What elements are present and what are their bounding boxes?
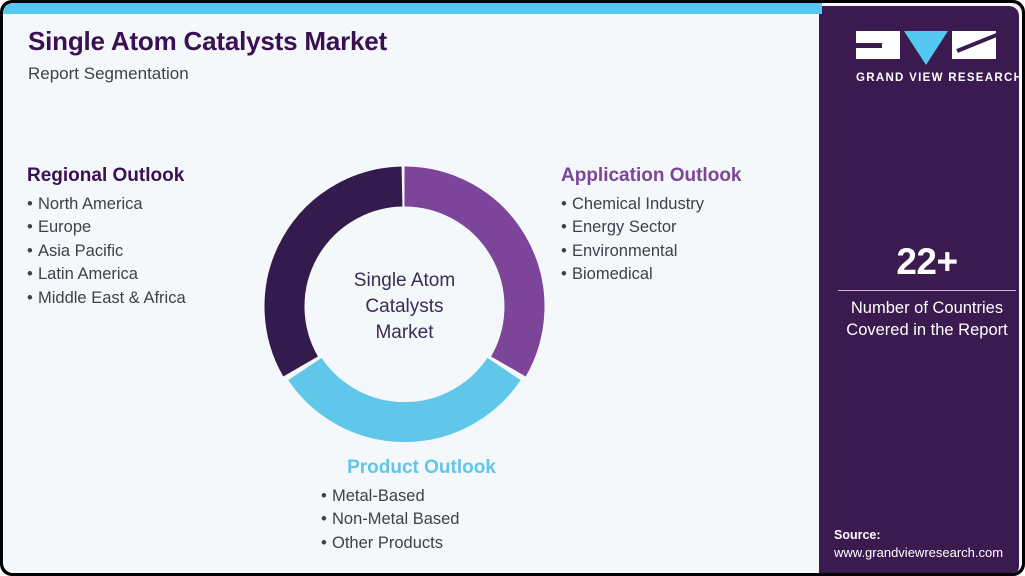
list-item: Non-Metal Based [321,508,543,532]
page-title: Single Atom Catalysts Market [28,27,728,57]
list-item: Latin America [27,263,267,287]
list-item: Energy Sector [561,216,811,240]
source-block: Source: www.grandviewresearch.com [834,526,1022,562]
countries-stat-block: 22+ Number of Countries Covered in the R… [829,241,1022,341]
donut-svg [264,166,545,447]
product-outlook-heading: Product Outlook [300,456,543,481]
list-item: Metal-Based [321,485,543,509]
source-url[interactable]: www.grandviewresearch.com [834,544,1022,562]
logo-marks [856,31,997,65]
list-item: Environmental [561,240,811,264]
stat-caption-line-1: Number of Countries [829,297,1022,319]
stat-caption: Number of Countries Covered in the Repor… [829,297,1022,341]
donut-segment-product [305,369,504,422]
stat-caption-line-2: Covered in the Report [829,319,1022,341]
main-panel: Single Atom Catalysts Market Report Segm… [3,3,1022,573]
logo-letter-g-icon [856,31,900,59]
list-item: Europe [27,216,267,240]
logo-letter-v-triangle-icon [904,31,948,65]
regional-outlook-heading: Regional Outlook [27,164,267,189]
donut-segment-regional [285,187,402,367]
logo-wordmark: GRAND VIEW RESEARCH [856,72,997,84]
top-accent-bar [3,3,822,14]
application-outlook-list: Chemical Industry Energy Sector Environm… [561,193,811,287]
header: Single Atom Catalysts Market Report Segm… [28,27,728,84]
donut-segment-application [405,187,525,367]
product-outlook-block: Product Outlook Metal-Based Non-Metal Ba… [303,456,543,555]
list-item: North America [27,193,267,217]
infographic-canvas: Single Atom Catalysts Market Report Segm… [0,0,1025,576]
product-outlook-list: Metal-Based Non-Metal Based Other Produc… [303,485,543,556]
stat-divider [838,290,1016,291]
stat-value: 22+ [829,241,1022,283]
list-item: Other Products [321,532,543,556]
list-item: Middle East & Africa [27,287,267,311]
logo-letter-r-icon [952,31,996,59]
application-outlook-heading: Application Outlook [561,164,811,189]
regional-outlook-block: Regional Outlook North America Europe As… [27,164,267,310]
grand-view-research-logo: GRAND VIEW RESEARCH [856,31,997,84]
application-outlook-block: Application Outlook Chemical Industry En… [561,164,811,287]
donut-chart: Single Atom Catalysts Market [264,166,545,447]
list-item: Biomedical [561,263,811,287]
list-item: Asia Pacific [27,240,267,264]
list-item: Chemical Industry [561,193,811,217]
source-label: Source: [834,526,1022,544]
regional-outlook-list: North America Europe Asia Pacific Latin … [27,193,267,311]
page-subtitle: Report Segmentation [28,64,728,84]
